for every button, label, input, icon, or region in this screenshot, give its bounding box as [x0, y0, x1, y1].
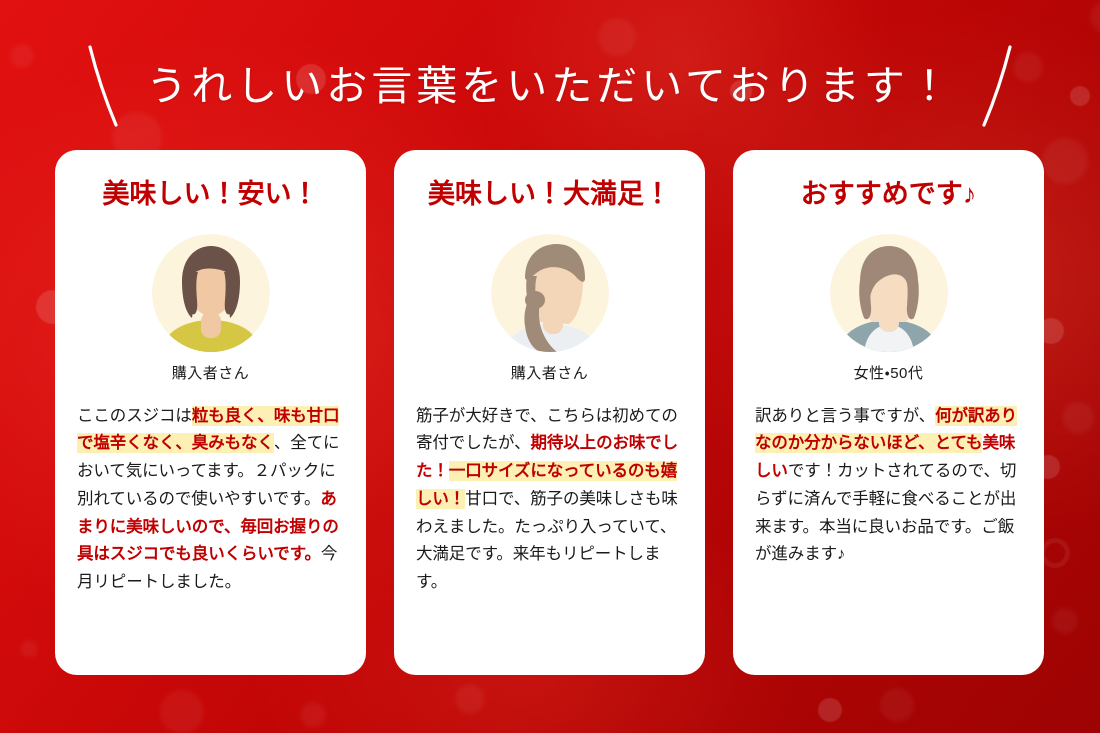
page-heading: うれしいお言葉をいただいております！ [0, 38, 1100, 134]
avatar-woman-yellow-top-icon [152, 234, 270, 352]
avatar-label: 女性・50代 [854, 362, 924, 383]
card-title: おすすめです♪ [801, 178, 977, 212]
plain-phrase: です！カットされてるので、切らずに済んで手軽に食べることが出来ます。本当に良いお… [755, 462, 1016, 563]
bokeh-circle [1062, 402, 1094, 434]
card-title: 美味しい！大満足！ [428, 178, 671, 212]
avatar-label: 購入者さん [172, 362, 250, 383]
testimonial-card: おすすめです♪ 女性・50代 訳ありと言う事ですが、何が訳ありなのか分からないほ… [733, 150, 1044, 675]
testimonial-card: 美味しい！大満足！ 購入者さん 筋子が大好きで、こちらは初めての寄付でしたが、期… [394, 150, 705, 675]
avatar [830, 234, 948, 352]
avatar [491, 234, 609, 352]
testimonial-card-list: 美味しい！安い！ 購入者さん ここのスジコは粒も良く、味も甘口で塩辛くなく、臭み… [55, 150, 1045, 675]
bokeh-circle [1090, 0, 1100, 34]
avatar-label: 購入者さん [511, 362, 589, 383]
plain-phrase: ここのスジコは [77, 407, 192, 425]
bokeh-circle [880, 688, 914, 722]
bokeh-circle [1042, 138, 1088, 184]
right-slash-icon [980, 43, 1014, 129]
review-text: 訳ありと言う事ですが、何が訳ありなのか分からないほど、とても美味しいです！カット… [755, 403, 1022, 569]
bokeh-circle [300, 702, 326, 728]
avatar [152, 234, 270, 352]
avatar-woman-ponytail-icon [491, 234, 609, 352]
bokeh-circle [20, 640, 38, 658]
bokeh-circle [160, 690, 204, 733]
left-slash-icon [86, 43, 120, 129]
avatar-woman-bob-white-top-icon [830, 234, 948, 352]
bokeh-circle [455, 684, 485, 714]
page-title: うれしいお言葉をいただいております！ [146, 66, 954, 107]
review-text: 筋子が大好きで、こちらは初めての寄付でしたが、期待以上のお味でした！一口サイズに… [416, 403, 683, 597]
bokeh-circle [1052, 608, 1078, 634]
testimonial-card: 美味しい！安い！ 購入者さん ここのスジコは粒も良く、味も甘口で塩辛くなく、臭み… [55, 150, 366, 675]
bokeh-circle [818, 698, 842, 722]
review-text: ここのスジコは粒も良く、味も甘口で塩辛くなく、臭みもなく、全てにおいて気にいって… [77, 403, 344, 597]
plain-phrase: 訳ありと言う事ですが、 [755, 407, 935, 425]
card-title: 美味しい！安い！ [103, 178, 319, 212]
